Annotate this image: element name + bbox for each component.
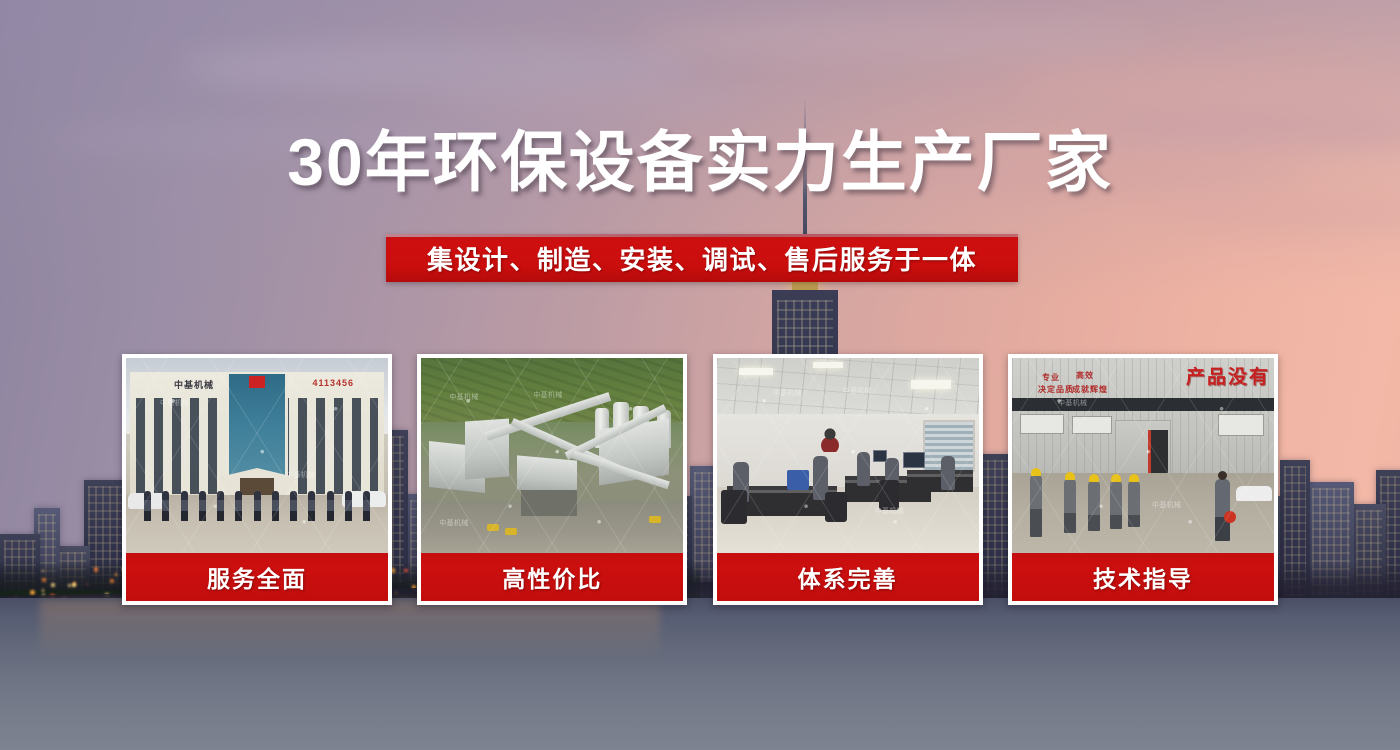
building-phone-text: 4113456 <box>312 378 354 388</box>
factory-window <box>1020 414 1064 434</box>
cloud-band <box>640 18 1160 60</box>
factory-sign-small-text: 高效 <box>1076 370 1094 381</box>
shore-light-dot <box>110 579 115 584</box>
factory-sign-small-text: 专业 <box>1042 372 1060 383</box>
wall-logo-icon <box>813 422 847 452</box>
feature-card-service[interactable]: 中基机械 4113456 中基机械 中基机械 服务全面 <box>122 354 392 605</box>
factory-window <box>1218 414 1264 436</box>
promo-banner: 30年环保设备实力生产厂家 集设计、制造、安装、调试、售后服务于一体 中基机械 … <box>0 0 1400 750</box>
shore-light-dot <box>72 583 76 587</box>
card-label-bar: 高性价比 <box>421 553 683 601</box>
factory-window <box>1072 416 1112 434</box>
computer-monitor <box>873 450 887 462</box>
office-chair <box>721 490 747 524</box>
company-headquarters-photo: 中基机械 4113456 中基机械 中基机械 <box>126 358 388 553</box>
ceiling-light <box>911 380 951 389</box>
factory-side-door <box>1148 430 1168 476</box>
ceiling-light <box>813 362 843 368</box>
plant-building <box>517 455 577 494</box>
technical-guidance-photo: 产品没有 专业 高效 决定品质 成就辉煌 <box>1012 358 1274 553</box>
worker-with-helmet <box>1110 481 1122 529</box>
shore-light-dot <box>42 570 44 572</box>
excavator <box>505 528 517 535</box>
excavator <box>487 524 499 531</box>
office-team-photo: 中基机械 中基机械 中基机械 <box>717 358 979 553</box>
worker-with-helmet <box>1030 475 1042 537</box>
excavator <box>649 516 661 523</box>
office-chair <box>825 492 847 522</box>
ceiling-light <box>739 368 773 375</box>
worker-with-helmet <box>1088 481 1100 531</box>
plant-shed <box>521 490 577 516</box>
worker-with-helmet <box>1064 479 1076 533</box>
feature-card-value[interactable]: 中基机械 中基机械 中基机械 高性价比 <box>417 354 687 605</box>
card-label-text: 技术指导 <box>1093 560 1193 594</box>
factory-window-strip <box>1012 398 1274 411</box>
worker-with-helmet <box>1128 481 1140 527</box>
card-label-text: 体系完善 <box>798 560 898 594</box>
card-label-text: 服务全面 <box>207 560 307 594</box>
feature-card-guidance[interactable]: 产品没有 专业 高效 决定品质 成就辉煌 <box>1008 354 1278 605</box>
office-worker <box>857 452 870 486</box>
river-reflection <box>40 600 660 658</box>
card-label-bar: 服务全面 <box>126 553 388 601</box>
shore-light-dot <box>42 578 46 582</box>
factory-sign-small-text: 决定品质 <box>1038 384 1074 395</box>
shore-light-dot <box>115 573 117 575</box>
card-label-text: 高性价比 <box>502 560 602 594</box>
shore-light-dot <box>94 567 98 571</box>
subtitle-text: 集设计、制造、安装、调试、售后服务于一体 <box>427 240 977 277</box>
building-sign-text: 中基机械 <box>174 378 214 391</box>
staff-lineup <box>144 491 370 523</box>
page-title: 30年环保设备实力生产厂家 <box>0 129 1400 195</box>
feature-card-row: 中基机械 4113456 中基机械 中基机械 服务全面 <box>122 354 1278 605</box>
production-plant-aerial-photo: 中基机械 中基机械 中基机械 <box>421 358 683 553</box>
computer-monitor <box>903 452 925 468</box>
shore-light-dot <box>68 584 71 587</box>
card-label-bar: 体系完善 <box>717 553 979 601</box>
factory-sign-text: 产品没有 <box>1186 362 1270 389</box>
office-desk <box>907 470 973 492</box>
parked-car <box>1236 486 1272 501</box>
supervisor-person <box>1215 479 1230 541</box>
cloud-band <box>430 86 760 116</box>
shore-light-dot <box>42 589 44 591</box>
factory-sign-small-text: 成就辉煌 <box>1072 384 1108 395</box>
office-worker <box>941 456 955 490</box>
shore-light-dot <box>51 583 55 587</box>
office-chair <box>879 480 899 510</box>
shore-light-dot <box>87 583 89 585</box>
red-helmet-icon <box>1224 511 1236 523</box>
subtitle-banner: 集设计、制造、安装、调试、售后服务于一体 <box>386 234 1018 282</box>
cloud-band <box>1010 62 1400 108</box>
feature-card-system[interactable]: 中基机械 中基机械 中基机械 体系完善 <box>713 354 983 605</box>
card-label-bar: 技术指导 <box>1012 553 1274 601</box>
flag-icon <box>249 376 265 388</box>
desk-box <box>787 470 809 490</box>
